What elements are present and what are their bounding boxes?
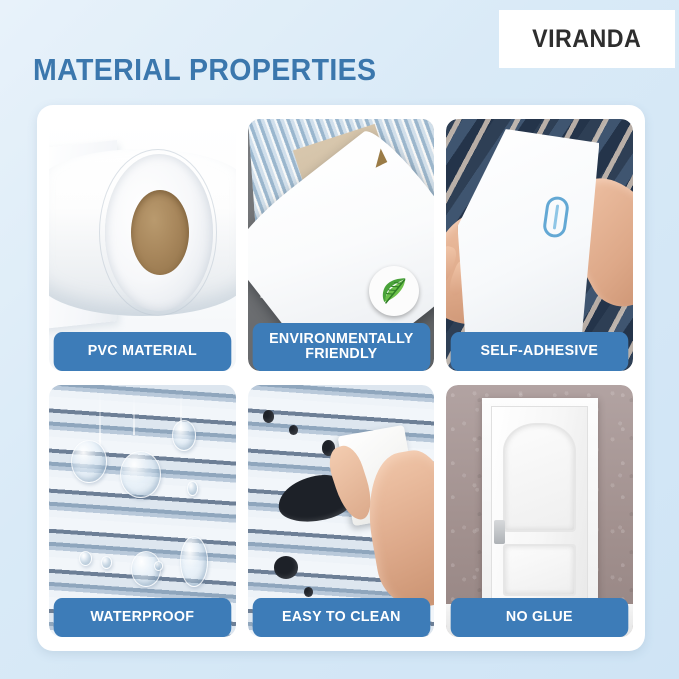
water-droplet [154,561,163,571]
water-droplet [101,556,112,569]
card-label-no-glue: NO GLUE [451,598,628,637]
water-droplet [120,451,161,499]
water-droplet [71,440,106,483]
leaf-icon [369,266,419,316]
card-label-environmentally-friendly: ENVIRONMENTALLY FRIENDLY [252,323,429,372]
liquid-stain [289,425,298,435]
liquid-stain [263,410,274,423]
feature-panel: PVC MATERIAL [37,105,645,651]
droplet-trail [99,390,101,445]
roll-cardboard-core [131,190,189,276]
adhesive-backing-sheet [458,129,600,361]
liquid-stain [304,587,313,597]
page-title: MATERIAL PROPERTIES [33,52,376,88]
card-label-pvc-material: PVC MATERIAL [54,332,231,371]
door-panel-top [503,423,575,532]
card-label-waterproof: WATERPROOF [54,598,231,637]
feature-card-waterproof[interactable]: WATERPROOF [49,385,236,637]
card-label-easy-to-clean: EASY TO CLEAN [252,598,429,637]
water-droplet [79,551,92,566]
feature-card-no-glue[interactable]: NO GLUE [446,385,633,637]
brand-logo-text: VIRANDA [532,25,641,54]
feature-card-easy-to-clean[interactable]: EASY TO CLEAN [248,385,435,637]
door-handle [494,520,505,544]
peel-corner-backing [369,149,387,168]
brand-logo-box: VIRANDA [499,10,675,68]
feature-card-self-adhesive[interactable]: SELF-ADHESIVE [446,119,633,371]
liquid-stain [274,556,298,579]
door-leaf [491,406,588,609]
feature-grid: PVC MATERIAL [49,119,633,637]
feature-card-pvc-material[interactable]: PVC MATERIAL [49,119,236,371]
water-droplet [180,536,208,586]
door-panel-bottom [503,544,575,596]
feature-card-environmentally-friendly[interactable]: ENVIRONMENTALLY FRIENDLY [248,119,435,371]
water-droplet [172,420,196,450]
water-droplet [187,481,198,496]
droplet-trail [133,395,135,435]
door-frame [482,398,598,610]
card-label-self-adhesive: SELF-ADHESIVE [451,332,628,371]
